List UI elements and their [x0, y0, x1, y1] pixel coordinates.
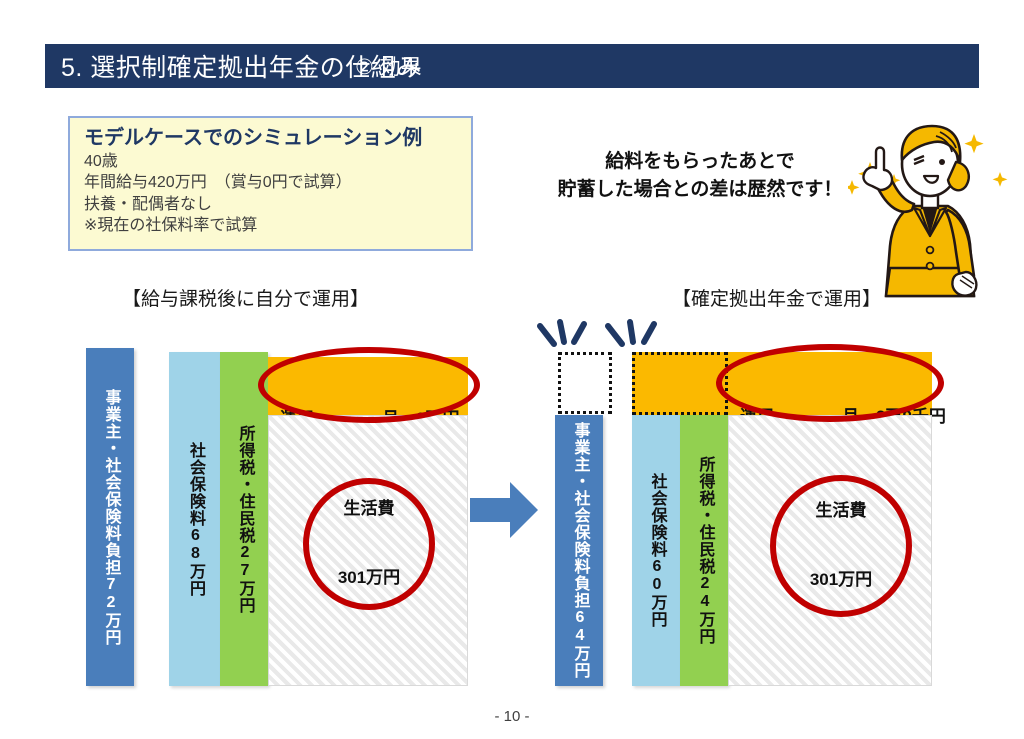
right-living-cost-line-1: 生活費 — [810, 500, 872, 523]
left-bar-employer-label: 事業主・社会保険料負担72万円 — [101, 389, 120, 646]
headline-message: 給料をもらったあとで 貯蓄した場合との差は歴然です！ — [520, 148, 880, 203]
right-living-cost-circle: 生活費 301万円 — [770, 475, 912, 617]
left-bar-employer: 事業主・社会保険料負担72万円 — [86, 348, 134, 686]
flow-arrow-icon — [468, 478, 540, 542]
model-case-line-age: 40歳 — [84, 151, 457, 172]
model-case-line-note: ※現在の社保料率で試算 — [84, 215, 457, 236]
model-case-line-salary: 年間給与420万円 （賞与0円で試算） — [84, 172, 457, 193]
model-case-box: モデルケースでのシミュレーション例 40歳 年間給与420万円 （賞与0円で試算… — [68, 116, 473, 251]
left-bar-income-tax: 所得税・住民税27万円 — [220, 352, 268, 686]
slide-title-bar: 5. 選択制確定拠出年金の仕組み ② 効果 — [45, 44, 979, 88]
left-bar-income-tax-label: 所得税・住民税27万円 — [235, 425, 254, 614]
right-bar-social-insurance-label: 社会保険料60万円 — [647, 473, 666, 628]
headline-line-2: 貯蓄した場合との差は歴然です！ — [520, 176, 880, 204]
headline-line-1: 給料をもらったあとで — [520, 148, 880, 176]
left-living-cost-circle: 生活費 301万円 — [303, 478, 435, 610]
right-bar-employer: 事業主・社会保険料負担64万円 — [555, 415, 603, 686]
left-chart-caption: 【給与課税後に自分で運用】 — [122, 284, 369, 311]
sparkle-lines-left-icon — [536, 318, 590, 358]
left-bar-social-insurance: 社会保険料68万円 — [169, 352, 220, 686]
page-subtitle: ② 効果 — [355, 51, 422, 81]
right-bar-income-tax-label: 所得税・住民税24万円 — [695, 456, 714, 645]
left-living-cost-text: 生活費 301万円 — [338, 452, 400, 636]
right-chart-caption: 【確定拠出年金で運用】 — [672, 284, 881, 311]
right-bar-income-tax: 所得税・住民税24万円 — [680, 415, 728, 686]
pointing-businesswoman-illustration — [848, 118, 1016, 300]
page-number: - 10 - — [0, 708, 1024, 725]
left-living-cost-line-1: 生活費 — [338, 498, 400, 521]
left-living-cost-line-2: 301万円 — [338, 567, 400, 590]
right-bar-employer-label: 事業主・社会保険料負担64万円 — [570, 422, 589, 679]
right-employer-reduction-placeholder — [558, 352, 612, 414]
model-case-line-dependents: 扶養・配偶者なし — [84, 194, 457, 215]
left-bar-social-insurance-label: 社会保険料68万円 — [185, 442, 204, 597]
model-case-title: モデルケースでのシミュレーション例 — [84, 126, 457, 151]
right-living-cost-text: 生活費 301万円 — [810, 454, 872, 638]
right-bar-social-insurance: 社会保険料60万円 — [632, 415, 680, 686]
slide-root: 5. 選択制確定拠出年金の仕組み ② 効果 モデルケースでのシミュレーション例 … — [0, 0, 1024, 739]
right-living-cost-line-2: 301万円 — [810, 569, 872, 592]
